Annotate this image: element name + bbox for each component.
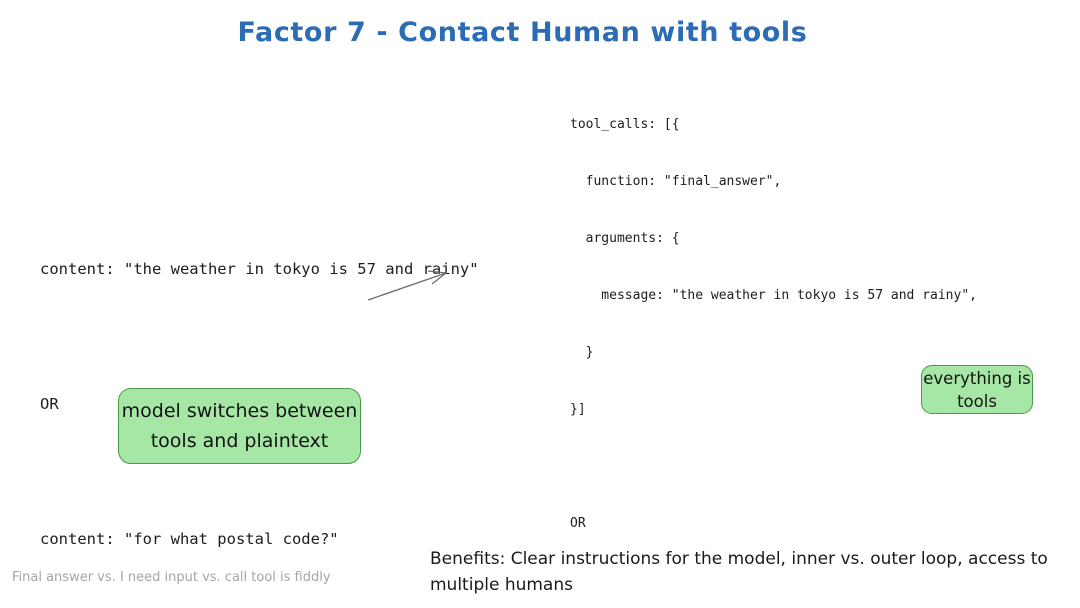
callout-model-switches: model switches between tools and plainte… <box>118 388 361 464</box>
left-code-column: content: "the weather in tokyo is 57 and… <box>40 157 479 608</box>
code-line: arguments: { <box>570 229 977 248</box>
callout-everything-is-tools: everything is tools <box>921 365 1033 414</box>
code-line: OR <box>570 514 977 533</box>
page-title: Factor 7 - Contact Human with tools <box>0 17 1045 48</box>
code-line: }] <box>570 400 977 419</box>
code-line: content: "for what postal code?" <box>40 517 479 562</box>
slide-canvas: Factor 7 - Contact Human with tools cont… <box>0 0 1080 608</box>
code-line: message: "the weather in tokyo is 57 and… <box>570 286 977 305</box>
code-line: } <box>570 343 977 362</box>
code-line: function: "final_answer", <box>570 172 977 191</box>
benefits-text: Benefits: Clear instructions for the mod… <box>430 546 1070 598</box>
diagonal-arrow-icon <box>360 260 460 310</box>
footnote-text: Final answer vs. I need input vs. call t… <box>12 570 331 585</box>
code-line: tool_calls: [{ <box>570 115 977 134</box>
right-code-column: tool_calls: [{ function: "final_answer",… <box>570 77 977 608</box>
code-line-blank <box>570 457 977 476</box>
